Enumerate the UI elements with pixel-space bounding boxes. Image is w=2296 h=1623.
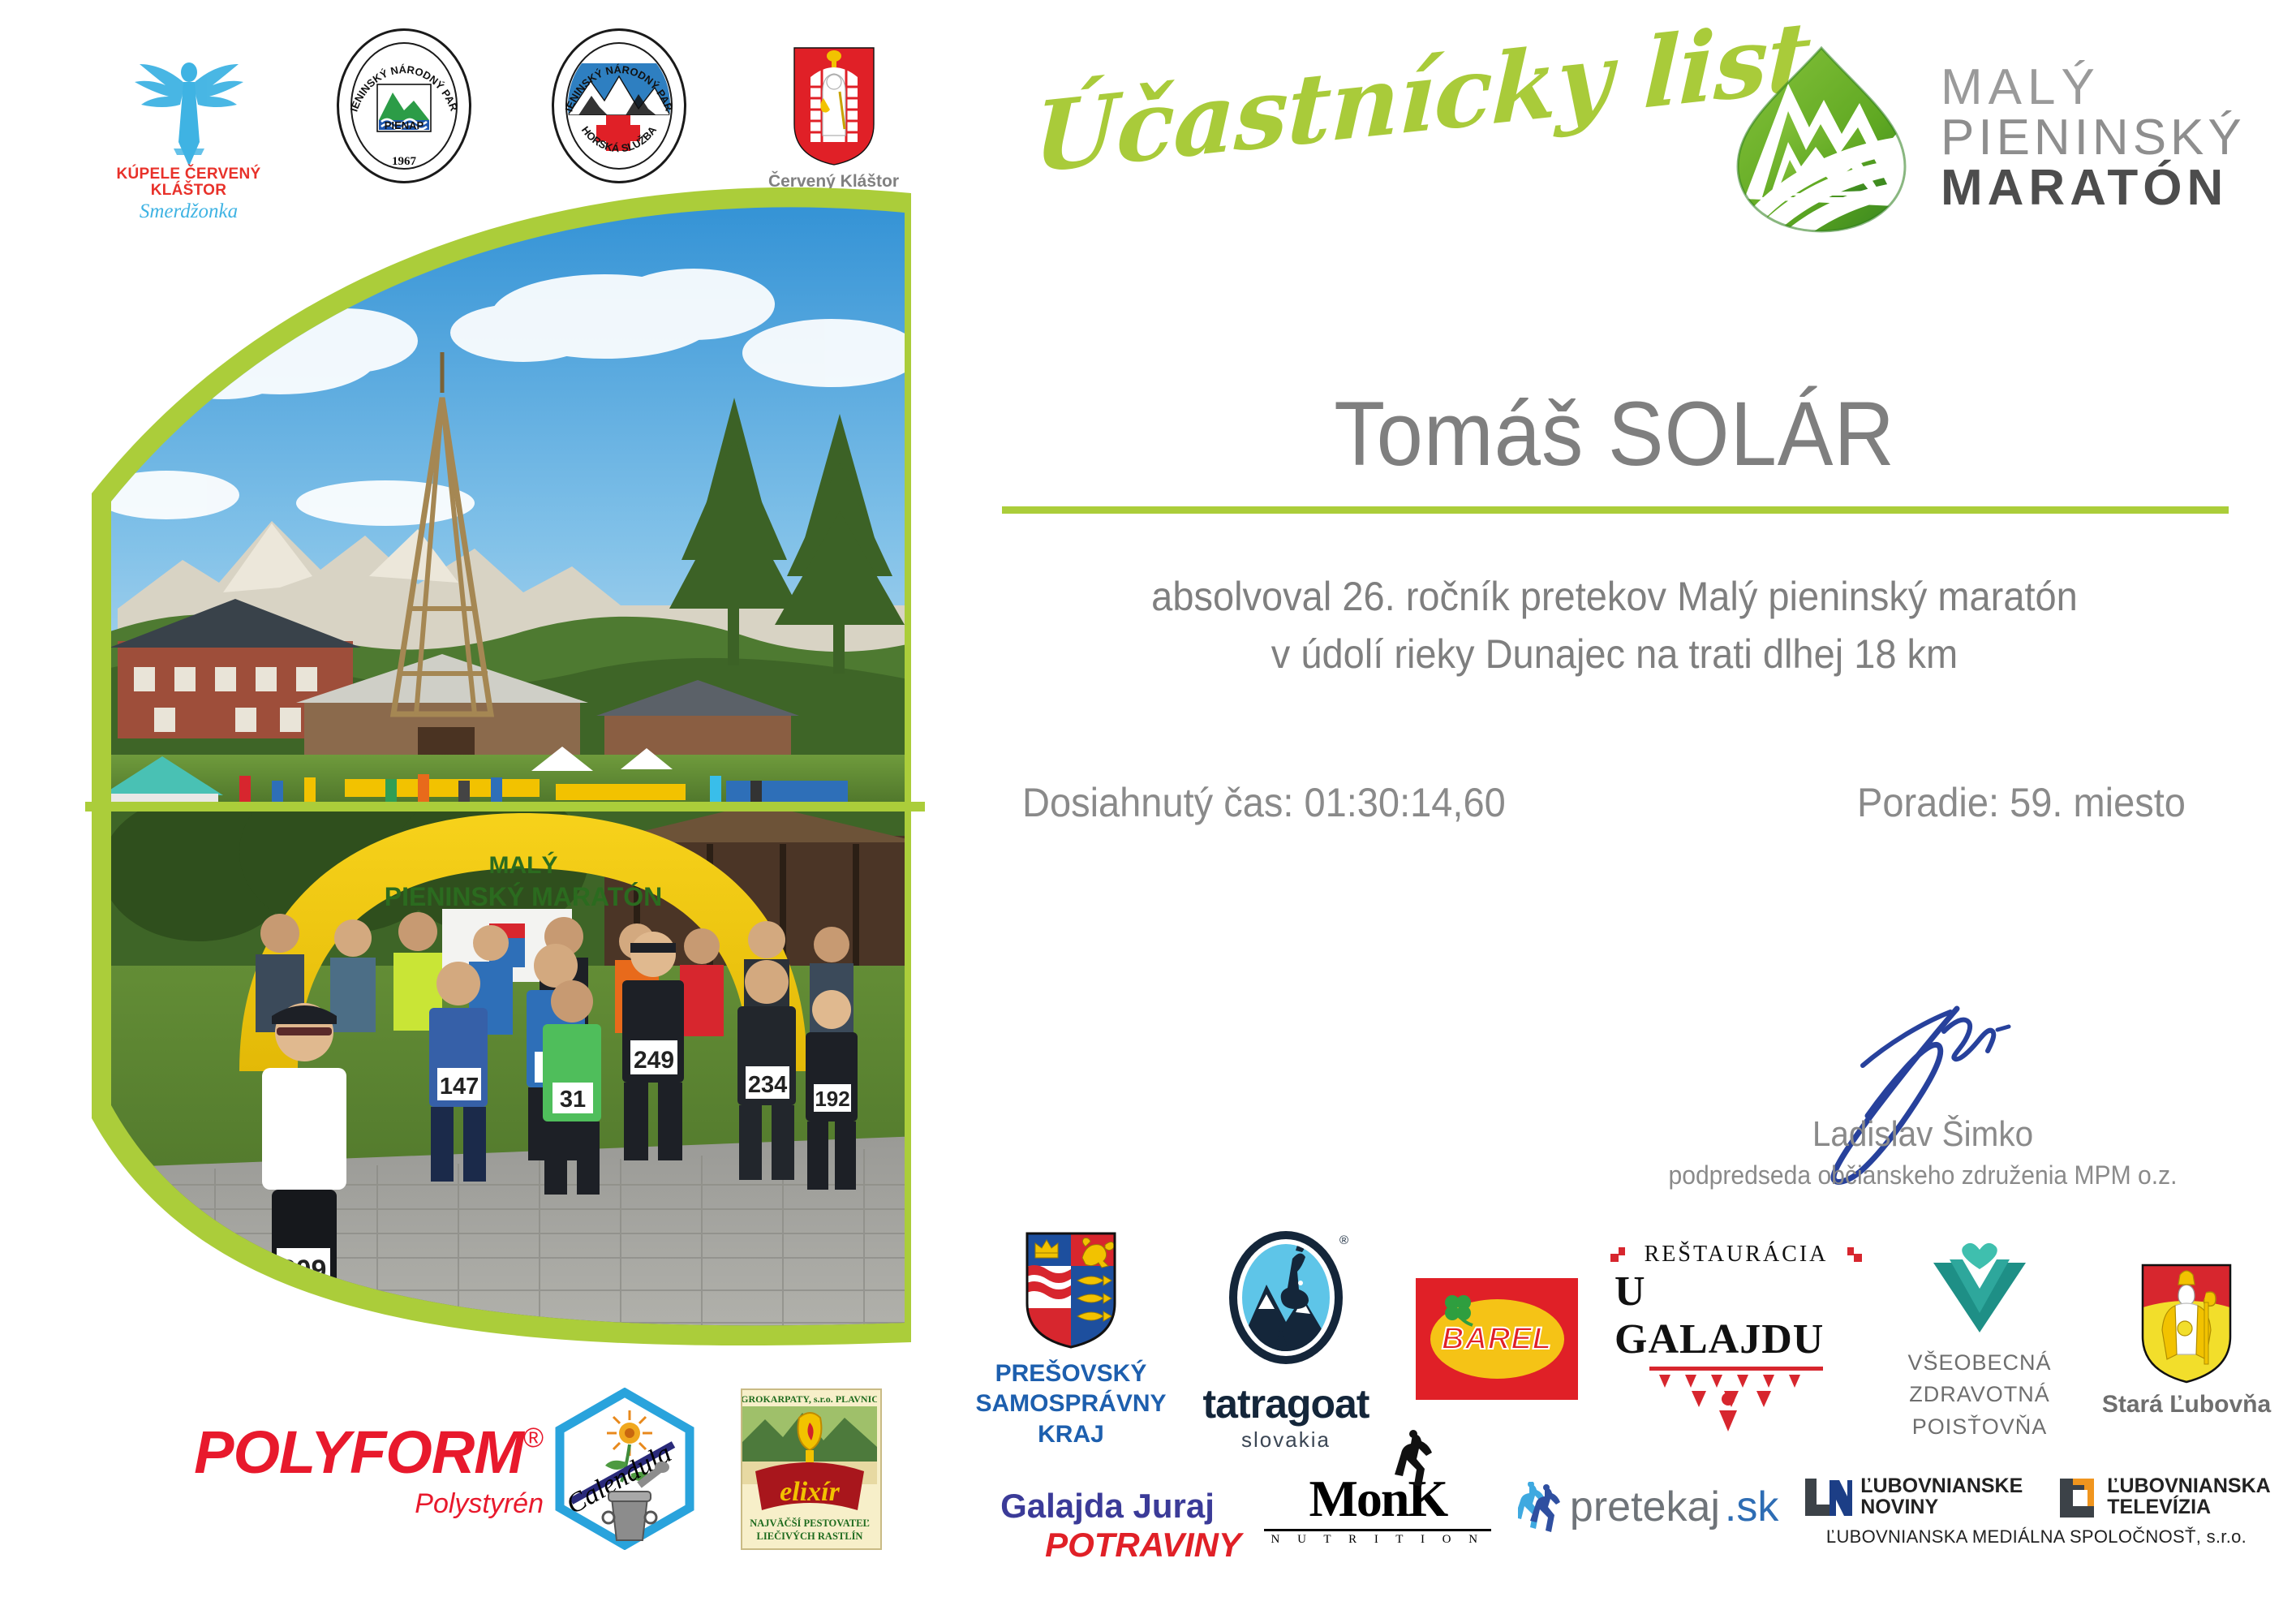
tatragoat-icon: ® [1221,1226,1351,1380]
sponsor-logo-presovsky-kraj: PREŠOVSKÝ SAMOSPRÁVNY KRAJ [974,1229,1168,1450]
recipient-name: Tomáš SOLÁR [1047,381,2182,486]
ln-monogram-icon [1802,1475,1852,1518]
ugalajdu-line1: REŠTAURÁCIA [1645,1242,1829,1268]
bib-31: 31 [560,1087,586,1113]
results-row: Dosiahnutý čas: 01:30:14,60 Poradie: 59.… [998,779,2231,826]
vszp-caption: VŠEOBECNÁ ZDRAVOTNÁ POISŤOVŇA [1907,1347,2051,1442]
placement: Poradie: 59. miesto [1857,779,2186,826]
pretekaj-name: pretekaj [1570,1483,1720,1531]
lubovnianska-televizia: ĽUBOVNIANSKA TELEVÍZIA [2055,1475,2270,1518]
sponsor-logo-stara-lubovna: Stará Ľubovňa [2101,1260,2272,1419]
horska-sluzba-seal-icon: PIENINSKÝ NÁRODNÝ PARK HORSKÁ SLUŽBA [552,45,686,166]
vszp-chevron-icon [1919,1235,2040,1341]
galajda-line2: POTRAVINY [1045,1526,1241,1565]
elixir-top-text: AGROKARPATY, s.r.o. PLAVNICA [742,1393,877,1405]
page-title: Účastnícky list [1034,81,1708,219]
clover-icon [1438,1289,1477,1328]
bib-147: 147 [440,1074,479,1100]
two-runners-icon [1518,1482,1565,1532]
lt-monogram-icon [2055,1475,2099,1518]
sponsor-logo-calendula: Calendula [544,1388,706,1550]
polyform-reg-icon: ® [523,1423,544,1454]
svg-text:PIENINSKÝ NÁRODNÝ PARK: PIENINSKÝ NÁRODNÝ PARK [339,31,460,113]
sponsor-logo-monk-nutrition: MonK N U T R I T I O N [1244,1469,1511,1547]
mpm-word-pieninsky: PIENINSKÝ [1941,113,2246,163]
handwritten-signature-icon [1785,994,2061,1189]
bib-234: 234 [748,1072,787,1098]
stara-lubovna-caption: Stará Ľubovňa [2102,1391,2271,1419]
signature-role: podpredseda občianskeho združenia MPM o.… [1656,1160,2190,1190]
folk-ornament-left-icon [1609,1242,1633,1267]
sponsor-logo-polyform: POLYFORM ® Polystyrén [89,1418,544,1520]
tatragoat-name: tatragoat [1203,1380,1369,1427]
sponsor-logo-lubovnianska-media: ĽUBOVNIANSKE NOVINY ĽUBOVNIANSKA TELEVÍZ… [1785,1475,2288,1548]
svg-text:PIENAP: PIENAP [384,119,424,131]
partner-logo-horska-sluzba: PIENINSKÝ NÁRODNÝ PARK HORSKÁ SLUŽBA [511,45,726,166]
mpm-brand-logo: MALÝ PIENINSKÝ MARATÓN [1720,37,2288,239]
achievement-text: absolvoval 26. ročník pretekov Malý pien… [1035,568,2195,683]
partner-logo-pienap: PIENINSKÝ NÁRODNÝ PARK PIENAP 1967 [296,45,511,166]
mpm-word-maraton: MARATÓN [1941,163,2246,213]
sponsors-bottom-row: Galajda Juraj POTRAVINY MonK N U T R I T… [974,1469,2288,1591]
arch-text-line1: MALÝ [489,851,558,879]
tatragoat-reg-icon: ® [1339,1233,1348,1247]
stara-lubovna-coat-of-arms-icon [2138,1260,2235,1386]
mpm-leaf-mountain-icon [1720,37,1923,239]
sponsor-logo-tatragoat: ® tatragoat slovakia [1193,1226,1379,1453]
ln-line1: ĽUBOVNIANSKE [1860,1475,2023,1496]
sponsor-logo-agrokarpaty-elixir: AGROKARPATY, s.r.o. PLAVNICA elixír NAJV… [706,1388,917,1550]
running-monk-icon [1388,1430,1437,1488]
elixir-line2: LIEČIVÝCH RASTLÍN [757,1530,863,1542]
sponsor-logo-vszp: VŠEOBECNÁ ZDRAVOTNÁ POISŤOVŇA [1882,1235,2077,1442]
psk-caption: PREŠOVSKÝ SAMOSPRÁVNY KRAJ [975,1358,1166,1450]
sponsors-left-row: POLYFORM ® Polystyrén Calen [81,1347,957,1591]
page-title-text: Účastnícky list [1033,0,1812,195]
bib-249: 249 [634,1047,674,1074]
lt-line2: TELEVÍZIA [2107,1496,2270,1518]
bib-192: 192 [815,1087,849,1111]
ln-line2: NOVINY [1860,1496,2023,1518]
event-photo-collage: MALÝ PIENINSKÝ MARATÓN [37,154,945,1388]
ugalajdu-line2: U GALAJDU [1615,1268,1858,1363]
certificate-page: KÚPELE ČERVENÝ KLÁŠTOR Smerdžonka PIENIN… [0,0,2296,1623]
arch-text-line2: PIENINSKÝ MARATÓN [385,882,663,911]
sponsors-mid-row: PREŠOVSKÝ SAMOSPRÁVNY KRAJ [974,1233,2272,1444]
kupele-angel-icon [120,45,258,166]
tatragoat-sub: slovakia [1241,1427,1331,1453]
elixir-line1: NAJVÄČŠÍ PESTOVATEĽ [750,1518,870,1529]
mpm-word-maly: MALÝ [1941,62,2246,113]
achievement-line-2: v údolí rieky Dunajec na trati dlhej 18 … [1035,626,2195,683]
galajda-line1: Galajda Juraj [1000,1487,1215,1526]
signature-name: Ladislav Šimko [1662,1114,2184,1155]
cerveny-klastor-coat-of-arms-icon [789,45,879,166]
pienap-seal-icon: PIENINSKÝ NÁRODNÝ PARK PIENAP 1967 [337,45,471,166]
elixir-brand: elixír [780,1477,840,1507]
sponsor-logo-barel: BAREL [1404,1278,1590,1400]
achievement-line-1: absolvoval 26. ročník pretekov Malý pien… [1035,568,2195,626]
folk-pattern-icon [1635,1363,1838,1436]
signature-block: Ladislav Šimko podpredseda občianskeho z… [1639,994,2207,1205]
pretekaj-tld: .sk [1725,1483,1778,1531]
name-divider [1002,506,2229,514]
sponsor-logo-galajda-juraj: Galajda Juraj POTRAVINY [974,1487,1241,1565]
folk-ornament-right-icon [1839,1242,1864,1267]
lt-line1: ĽUBOVNIANSKA [2107,1475,2270,1496]
sponsor-logo-pretekaj-sk: pretekaj .sk [1515,1482,1782,1532]
mpm-wordmark: MALÝ PIENINSKÝ MARATÓN [1941,62,2246,213]
lubovnianske-noviny: ĽUBOVNIANSKE NOVINY [1802,1475,2023,1518]
polyform-name: POLYFORM [194,1418,523,1487]
psk-coat-of-arms-icon [1022,1229,1120,1350]
polyform-sub: Polystyrén [415,1488,544,1520]
sponsor-logo-u-galajdu: REŠTAURÁCIA U GALAJDU [1615,1242,1858,1436]
monk-sub: N U T R I T I O N [1264,1529,1491,1547]
lubovnianska-media-footer: ĽUBOVNIANSKA MEDIÁLNA SPOLOČNOSŤ, s.r.o. [1826,1526,2247,1548]
finish-time: Dosiahnutý čas: 01:30:14,60 [1022,779,1506,826]
